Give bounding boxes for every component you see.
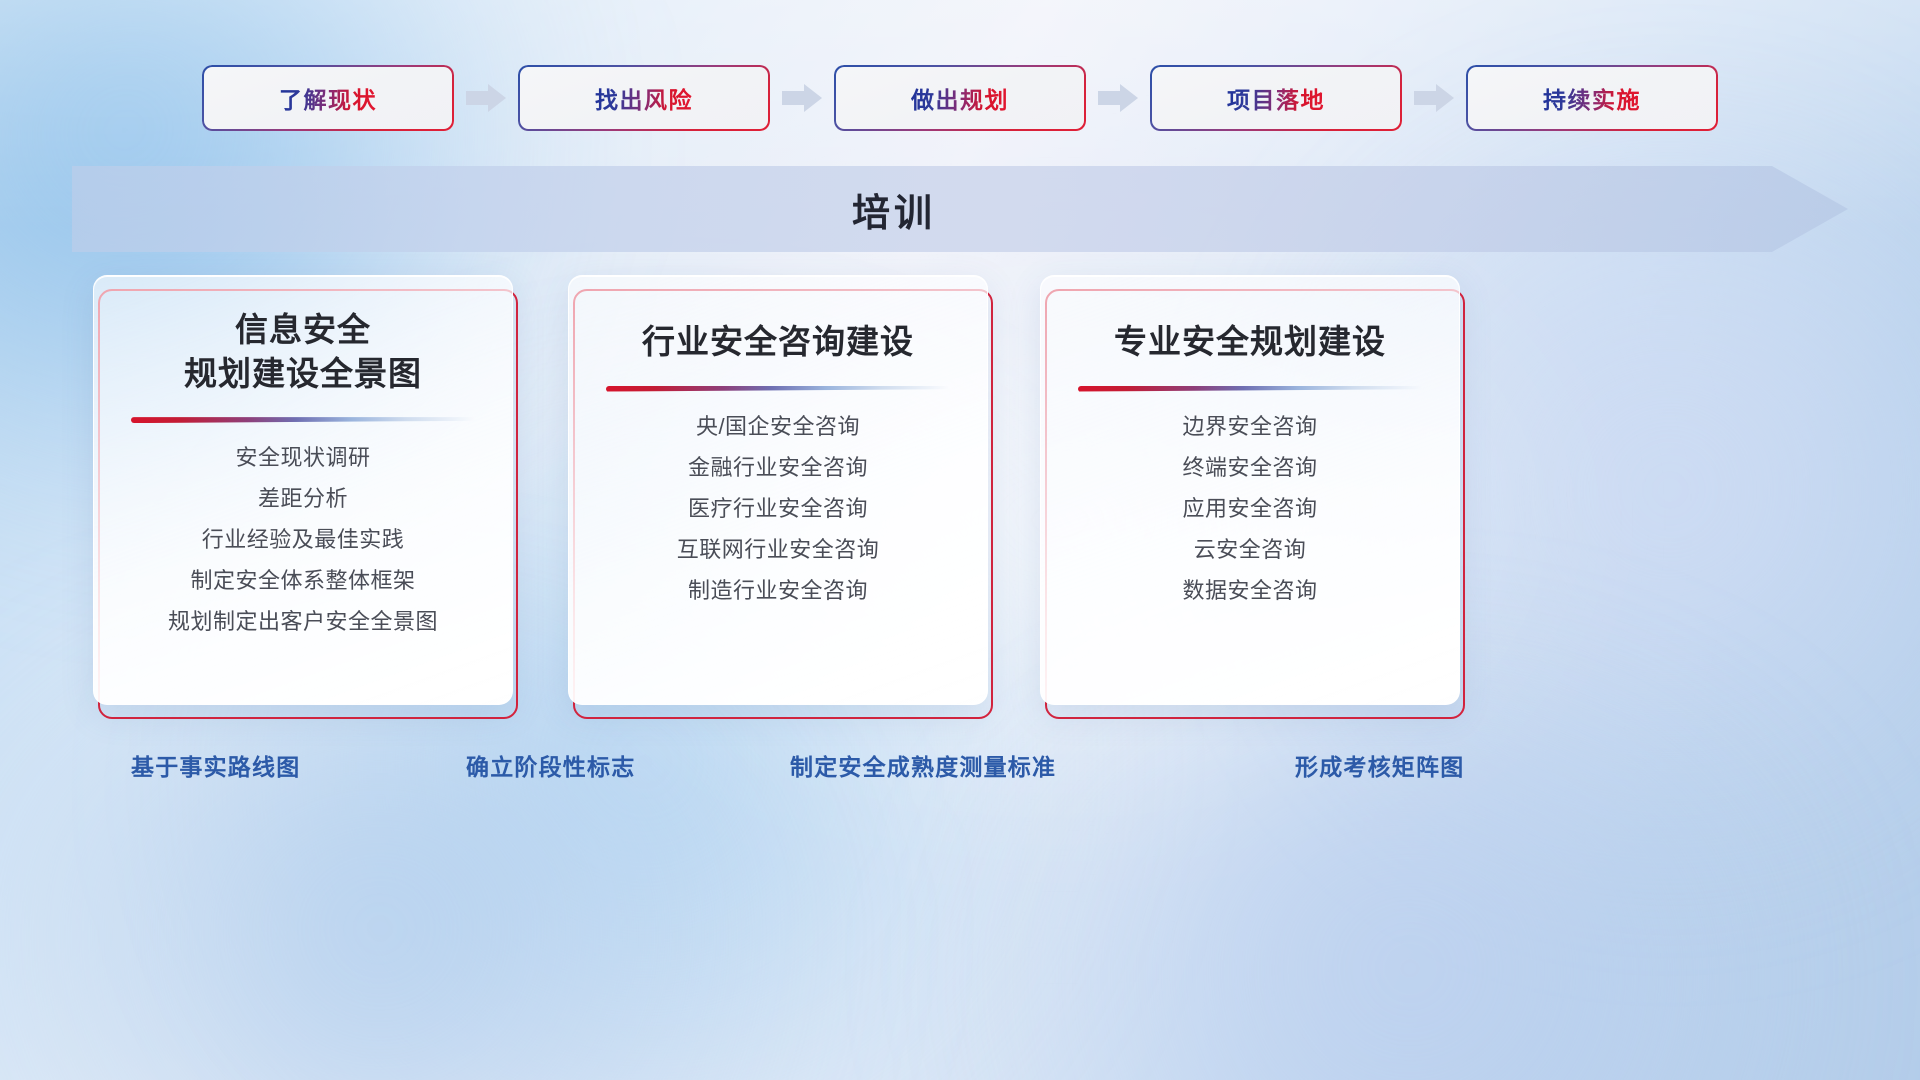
arrow-right-icon: [1095, 81, 1141, 115]
card-title-line-1: 信息安全: [184, 308, 422, 352]
list-item: 行业经验及最佳实践: [202, 529, 405, 551]
card-panel[interactable]: 专业安全规划建设 边界安全咨询 终端安全咨询 应用安全咨询 云安全咨询 数据安全…: [1040, 275, 1460, 705]
banner-title: 培训: [852, 182, 936, 237]
card-divider: [1078, 386, 1422, 392]
arrow-right-icon: [1411, 81, 1457, 115]
card-title: 信息安全 规划建设全景图: [166, 308, 440, 395]
list-item: 安全现状调研: [235, 447, 370, 469]
list-item: 医疗行业安全咨询: [688, 498, 868, 520]
card-title-line-2: 规划建设全景图: [184, 352, 422, 396]
caption-3: 制定安全成熟度测量标准: [790, 748, 1056, 782]
card-panel[interactable]: 行业安全咨询建设 央/国企安全咨询 金融行业安全咨询 医疗行业安全咨询 互联网行…: [568, 275, 988, 705]
training-banner: 培训: [72, 166, 1848, 252]
card-title: 专业安全规划建设: [1096, 320, 1404, 364]
step-box-4[interactable]: 项目落地: [1150, 65, 1402, 131]
step-label: 项目落地: [1227, 81, 1325, 115]
list-item: 数据安全咨询: [1182, 580, 1317, 602]
caption-2: 确立阶段性标志: [466, 748, 635, 782]
step-box-3[interactable]: 做出规划: [834, 65, 1086, 131]
card-item-list: 央/国企安全咨询 金融行业安全咨询 医疗行业安全咨询 互联网行业安全咨询 制造行…: [569, 416, 987, 621]
step-label: 持续实施: [1543, 81, 1641, 115]
list-item: 应用安全咨询: [1182, 498, 1317, 520]
card-3[interactable]: 专业安全规划建设 边界安全咨询 终端安全咨询 应用安全咨询 云安全咨询 数据安全…: [1040, 275, 1470, 725]
step-box-1[interactable]: 了解现状: [202, 65, 454, 131]
list-item: 边界安全咨询: [1182, 416, 1317, 438]
cards-row: 信息安全 规划建设全景图 安全现状调研 差距分析 行业经验及最佳实践 制定安全体…: [0, 275, 1920, 725]
step-label: 做出规划: [911, 81, 1009, 115]
card-title: 行业安全咨询建设: [624, 320, 932, 364]
arrow-right-icon: [463, 81, 509, 115]
card-item-list: 安全现状调研 差距分析 行业经验及最佳实践 制定安全体系整体框架 规划制定出客户…: [94, 447, 512, 652]
list-item: 云安全咨询: [1194, 539, 1307, 561]
step-label: 找出风险: [595, 81, 693, 115]
step-box-5[interactable]: 持续实施: [1466, 65, 1718, 131]
card-divider: [606, 386, 950, 392]
card-panel[interactable]: 信息安全 规划建设全景图 安全现状调研 差距分析 行业经验及最佳实践 制定安全体…: [93, 275, 513, 705]
list-item: 差距分析: [258, 488, 348, 510]
process-steps-row: 了解现状 找出风险 做出规划 项目落地 持续实施: [0, 62, 1920, 134]
card-divider: [131, 417, 475, 423]
card-title-line-1: 行业安全咨询建设: [642, 320, 914, 364]
list-item: 规划制定出客户安全全景图: [168, 611, 438, 633]
list-item: 制造行业安全咨询: [688, 580, 868, 602]
card-1[interactable]: 信息安全 规划建设全景图 安全现状调研 差距分析 行业经验及最佳实践 制定安全体…: [93, 275, 523, 725]
list-item: 制定安全体系整体框架: [190, 570, 415, 592]
list-item: 互联网行业安全咨询: [677, 539, 880, 561]
caption-1: 基于事实路线图: [131, 748, 300, 782]
card-title-line-1: 专业安全规划建设: [1114, 320, 1386, 364]
list-item: 金融行业安全咨询: [688, 457, 868, 479]
step-label: 了解现状: [279, 81, 377, 115]
captions-row: 基于事实路线图 确立阶段性标志 制定安全成熟度测量标准 形成考核矩阵图: [0, 748, 1920, 788]
caption-4: 形成考核矩阵图: [1295, 748, 1464, 782]
step-box-2[interactable]: 找出风险: [518, 65, 770, 131]
list-item: 终端安全咨询: [1182, 457, 1317, 479]
list-item: 央/国企安全咨询: [696, 416, 860, 438]
card-item-list: 边界安全咨询 终端安全咨询 应用安全咨询 云安全咨询 数据安全咨询: [1041, 416, 1459, 621]
card-2[interactable]: 行业安全咨询建设 央/国企安全咨询 金融行业安全咨询 医疗行业安全咨询 互联网行…: [568, 275, 998, 725]
arrow-right-icon: [779, 81, 825, 115]
banner-text-wrap: 培训: [72, 166, 1848, 252]
